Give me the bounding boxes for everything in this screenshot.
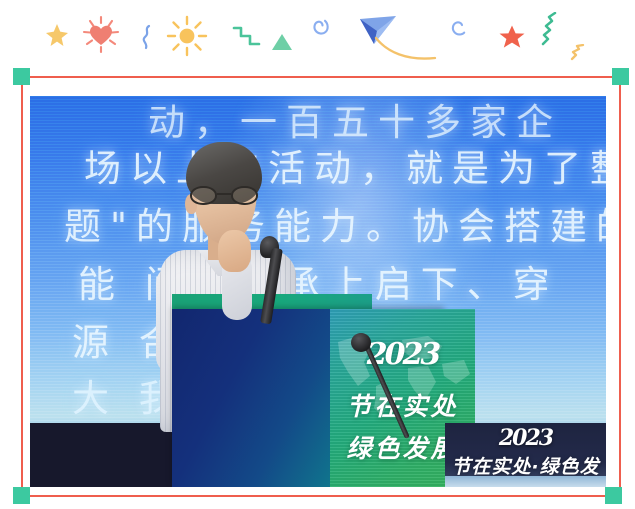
glasses-lens-left bbox=[190, 186, 217, 205]
plane-trail-icon bbox=[373, 36, 439, 66]
glasses-bridge bbox=[217, 193, 231, 195]
zigzag-green-2-icon bbox=[540, 12, 566, 46]
sun-icon bbox=[166, 15, 208, 57]
speaker-glasses bbox=[188, 186, 262, 206]
decorative-doodle-strip bbox=[0, 0, 635, 72]
frame-line-bottom bbox=[14, 495, 613, 497]
stand-microphone-head bbox=[351, 333, 371, 352]
frame-corner-bottom-left bbox=[13, 487, 30, 504]
triangle-green-icon bbox=[271, 33, 293, 51]
frame-line-right bbox=[619, 77, 621, 497]
zigzag-yellow-icon bbox=[570, 44, 594, 62]
frame-line-left bbox=[21, 76, 23, 496]
spiral-blue-2-icon bbox=[446, 18, 470, 42]
conference-photo: 动，一百五十多家企 场以上的活动，就是为了整合 题"的服务能力。协会搭建的节 能… bbox=[30, 96, 606, 487]
podium-slogan-line-1: 节在实处 bbox=[330, 387, 475, 423]
photo-card-page: 动，一百五十多家企 场以上的活动，就是为了整合 题"的服务能力。协会搭建的节 能… bbox=[0, 0, 635, 509]
heart-burst-icon bbox=[80, 14, 122, 56]
frame-corner-bottom-right bbox=[605, 487, 622, 504]
frame-line-top bbox=[22, 76, 621, 78]
star-yellow-icon bbox=[44, 22, 70, 48]
spiral-blue-icon bbox=[307, 17, 331, 41]
speaker-hand bbox=[218, 230, 251, 272]
star-red-icon bbox=[498, 24, 526, 52]
frame-corner-top-left bbox=[13, 68, 30, 85]
zigzag-green-icon bbox=[232, 25, 262, 49]
banner-base bbox=[445, 476, 606, 487]
squiggle-blue-icon bbox=[140, 24, 154, 50]
frame-corner-top-right bbox=[612, 68, 629, 85]
banner-logo-mark: 2023 bbox=[445, 425, 606, 451]
glasses-lens-right bbox=[231, 186, 258, 205]
